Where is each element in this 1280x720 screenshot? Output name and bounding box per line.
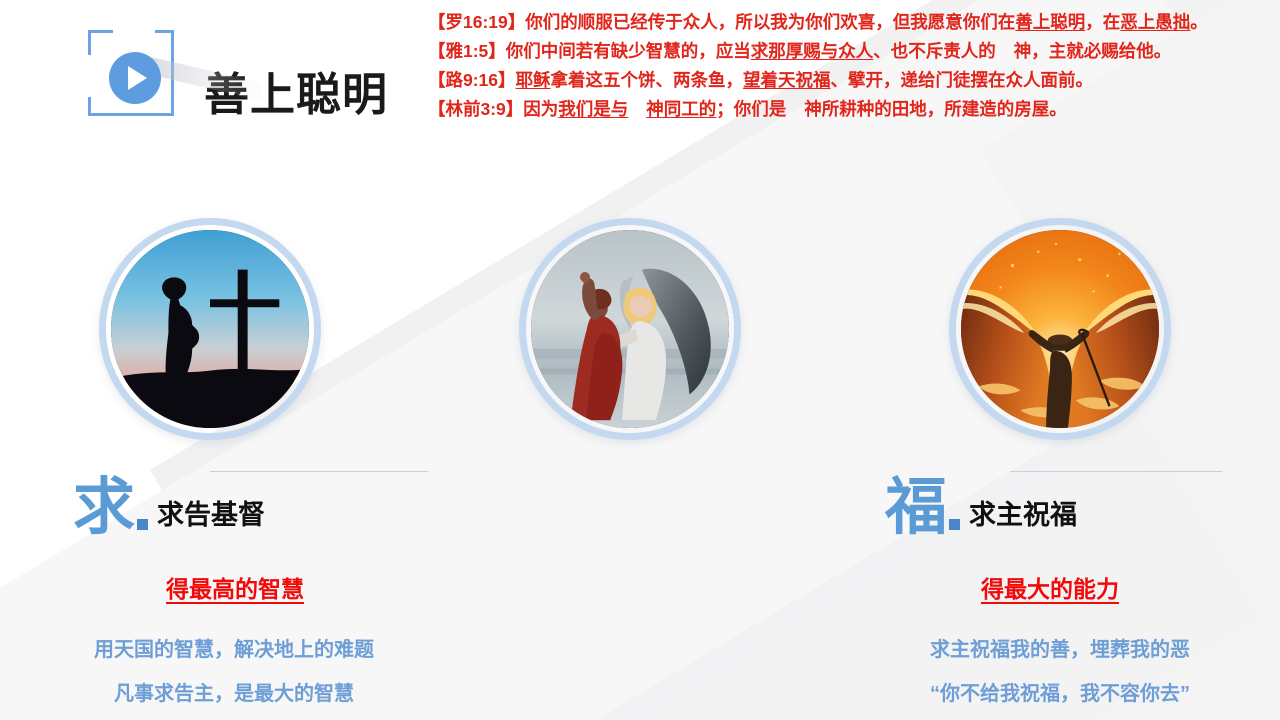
heading-label: 求告基督 [157,493,265,532]
column-qiu: 求 求告基督 得最高的智慧 用天国的智慧，解决地上的难题 凡事求告主，是最大的智… [0,0,420,720]
photo-praying-silhouette-cross [99,218,321,440]
red-heading: 得最高的智慧 [25,570,445,604]
column-xin: 信 与主同工 找最卓越的带领者 与卓越者同工，至少成为优秀 作最智慧的上帝，手中… [850,0,1270,720]
blue-body-line: 用天国的智慧，解决地上的难题 [14,628,454,672]
photo-moses-parting-sea [949,218,1171,440]
slide-canvas: 善上聪明 【罗16:19】你们的顺服已经传于众人，所以我为你们欢喜，但我愿意你们… [0,0,1280,720]
play-triangle-icon [128,66,147,90]
column-fu: 福 求主祝福 得最大的能力 求主祝福我的善，埋葬我的恶 “你不给我祝福，我不容你… [420,0,840,720]
photo-jacob-wrestling-angel [519,218,741,440]
column-divider [210,471,428,472]
photo-ring-border [949,218,1171,440]
big-char-dot-icon [137,519,148,530]
big-char: 求 [73,478,135,539]
photo-ring-border [99,218,321,440]
photo-ring-border [519,218,741,440]
column-heading-row: 求 求告基督 [73,478,265,539]
blue-body-lines: 用天国的智慧，解决地上的难题 凡事求告主，是最大的智慧 [14,628,454,716]
blue-body-line: 凡事求告主，是最大的智慧 [14,672,454,716]
